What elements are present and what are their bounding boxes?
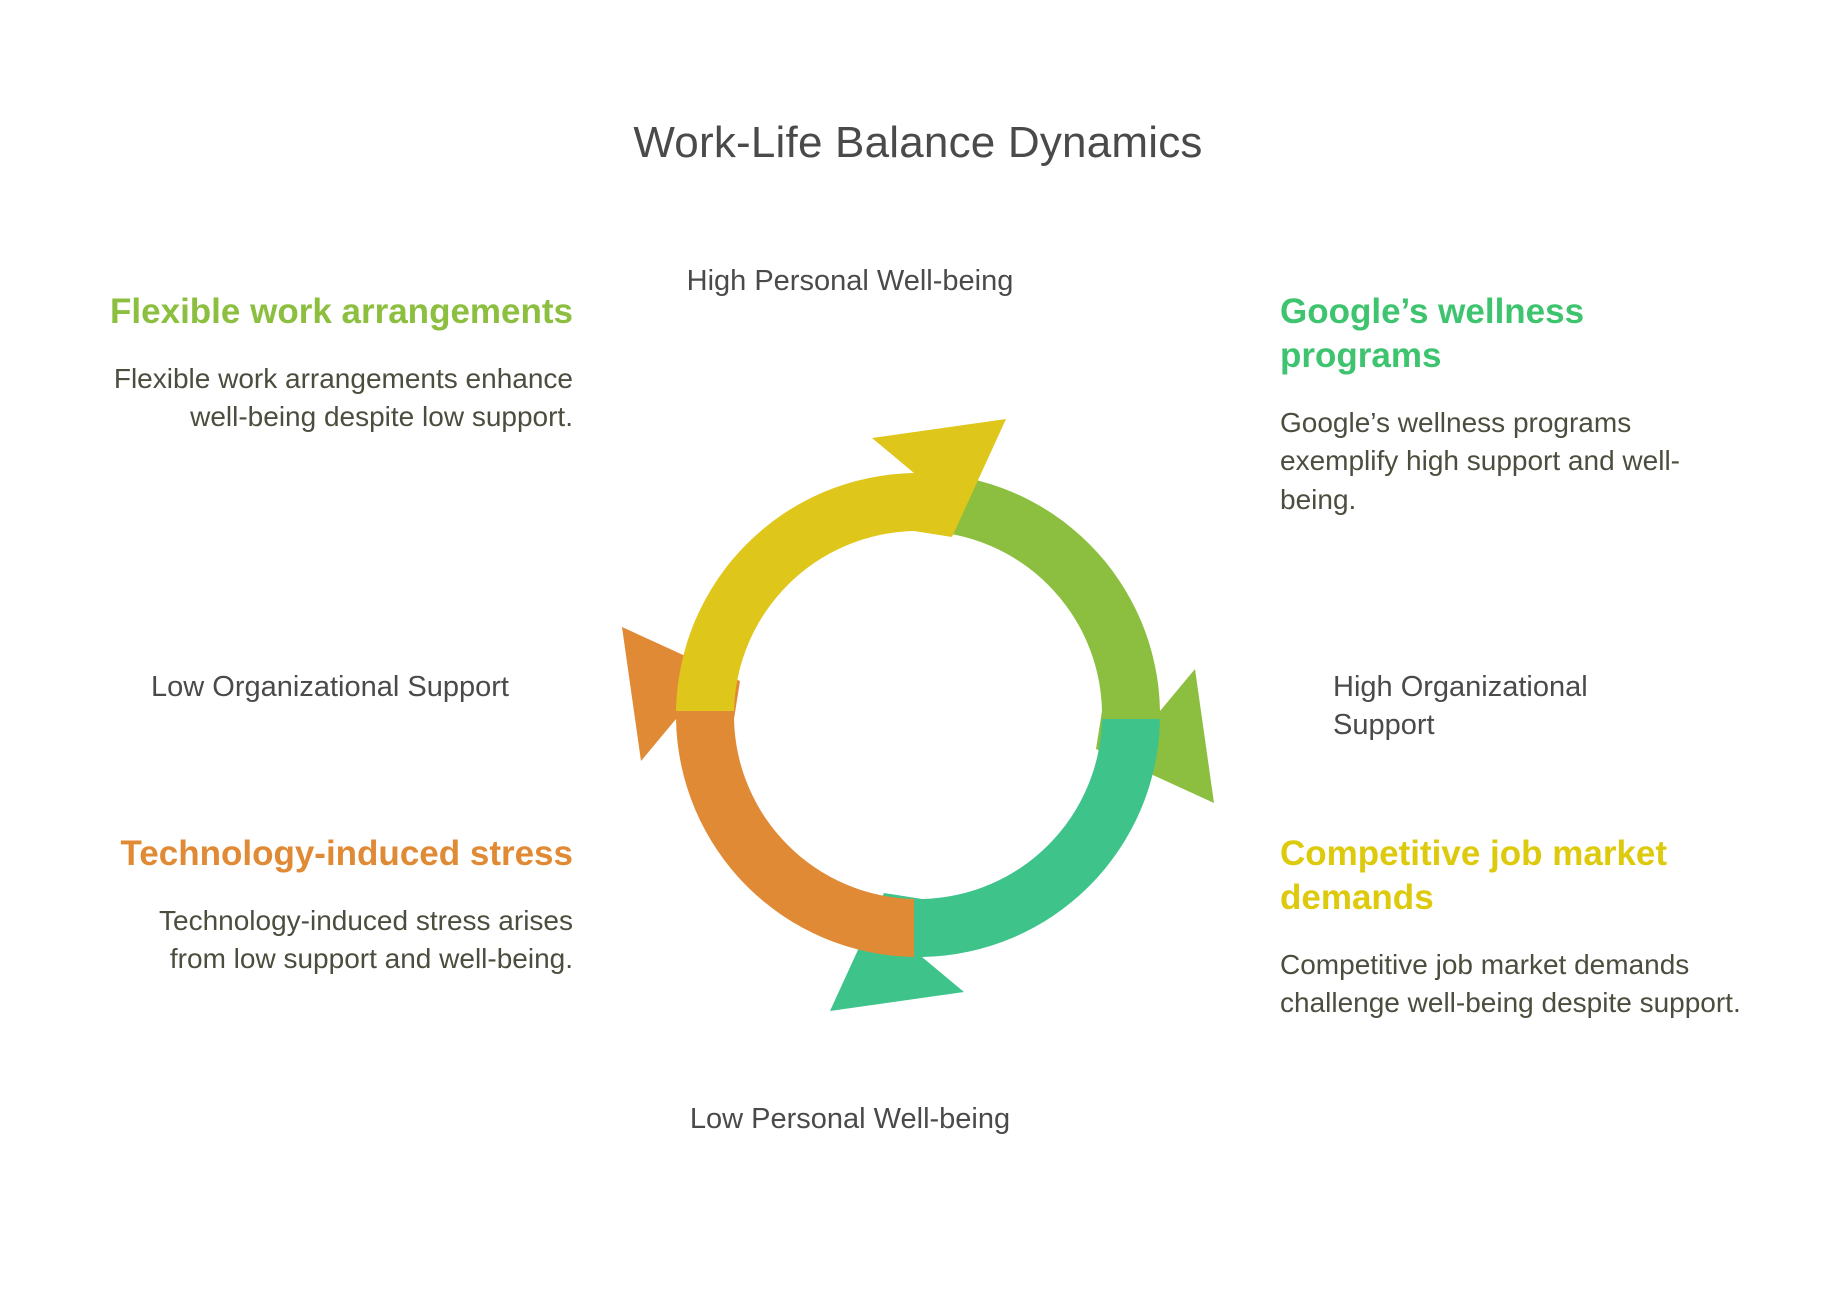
quadrant-body-competitive-job-market-demands: Competitive job market demands challenge… [1280, 946, 1750, 1023]
axis-label-low-organizational-support: Low Organizational Support [150, 668, 510, 706]
segment-google-wellness-programs[interactable] [922, 473, 1214, 803]
cycle-diagram-svg [612, 415, 1224, 1015]
quadrant-technology-induced-stress[interactable]: Technology-induced stress Technology-ind… [103, 832, 573, 979]
quadrant-google-wellness-programs[interactable]: Google’s wellness programs Google’s well… [1280, 290, 1750, 519]
segment-flexible-work-arrangements[interactable] [676, 419, 1006, 711]
quadrant-heading-flexible-work-arrangements: Flexible work arrangements [103, 290, 573, 334]
segment-competitive-job-market-demands[interactable] [830, 719, 1160, 1011]
quadrant-body-flexible-work-arrangements: Flexible work arrangements enhance well-… [103, 360, 573, 437]
page-title: Work-Life Balance Dynamics [0, 118, 1836, 168]
quadrant-flexible-work-arrangements[interactable]: Flexible work arrangements Flexible work… [103, 290, 573, 437]
cycle-diagram [612, 415, 1224, 1015]
quadrant-competitive-job-market-demands[interactable]: Competitive job market demands Competiti… [1280, 832, 1750, 1023]
axis-label-high-organizational-support: High Organizational Support [1333, 668, 1683, 745]
axis-label-high-personal-wellbeing: High Personal Well-being [660, 262, 1040, 300]
quadrant-heading-google-wellness-programs: Google’s wellness programs [1280, 290, 1750, 378]
quadrant-heading-competitive-job-market-demands: Competitive job market demands [1280, 832, 1750, 920]
axis-label-low-personal-wellbeing: Low Personal Well-being [640, 1100, 1060, 1138]
segment-technology-induced-stress[interactable] [622, 627, 914, 957]
quadrant-heading-technology-induced-stress: Technology-induced stress [103, 832, 573, 876]
quadrant-body-technology-induced-stress: Technology-induced stress arises from lo… [103, 902, 573, 979]
quadrant-body-google-wellness-programs: Google’s wellness programs exemplify hig… [1280, 404, 1750, 520]
